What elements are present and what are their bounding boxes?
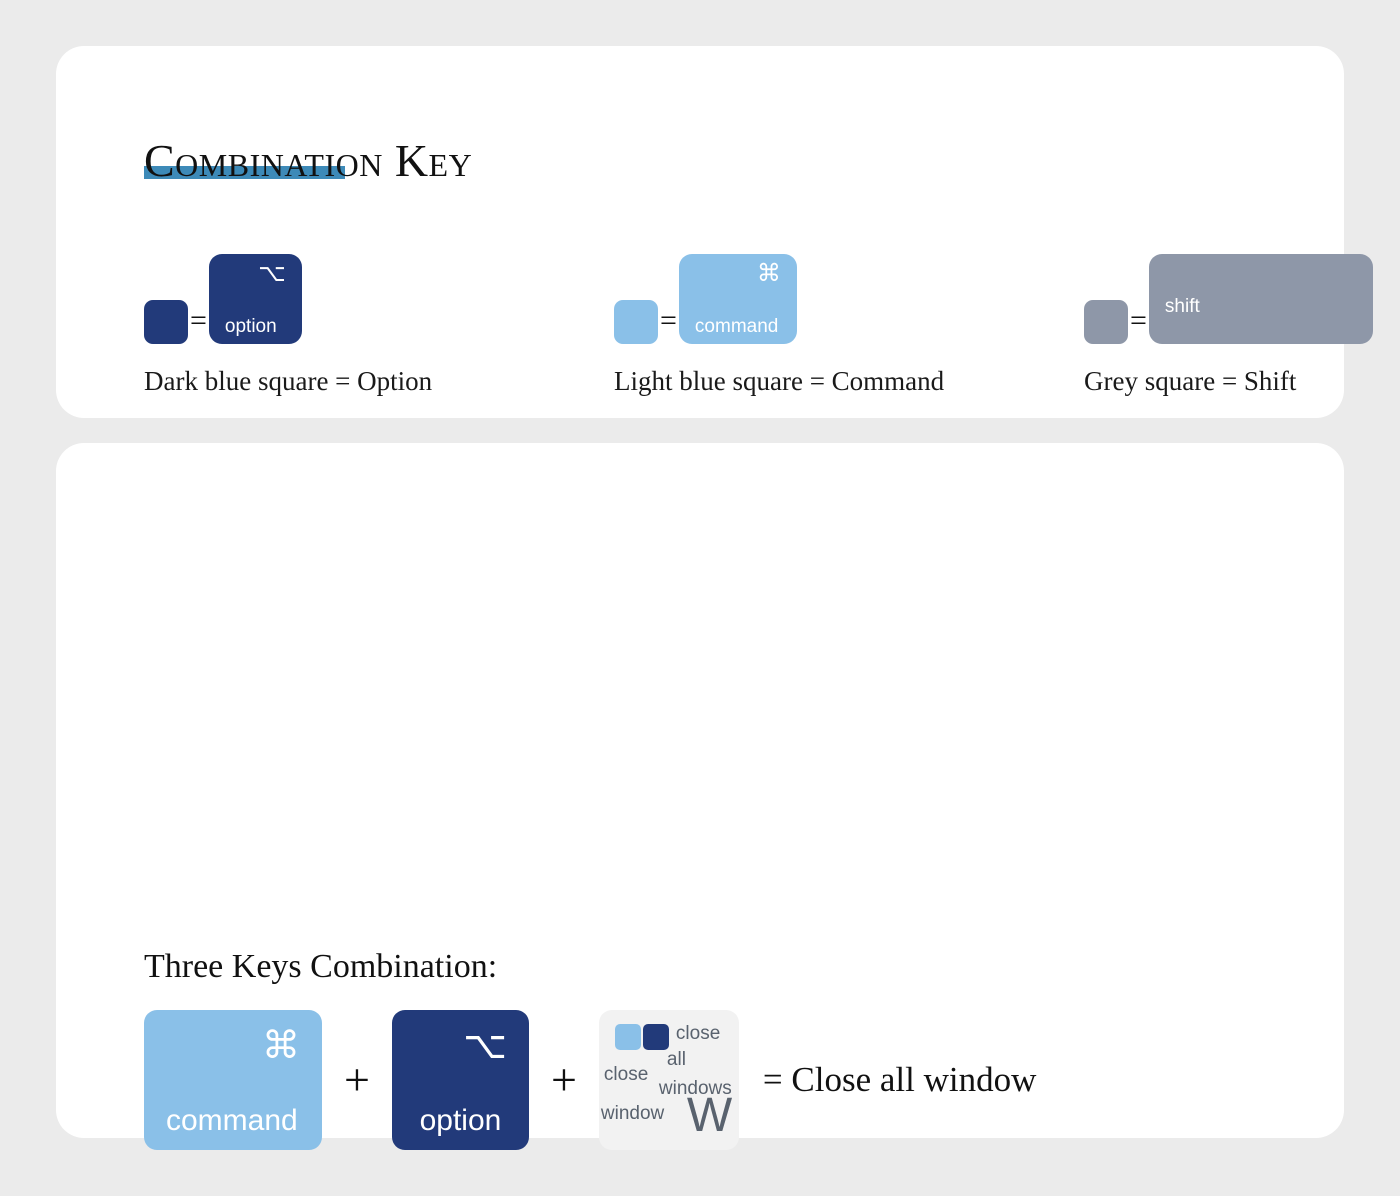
legend-item-option: = ⌥ option Dark blue square = Option [144, 252, 432, 397]
swatch-dark-blue [144, 300, 188, 344]
keycap-label: option [225, 316, 277, 338]
swatch-light-blue [614, 300, 658, 344]
chip-dark-blue-icon [643, 1024, 669, 1050]
swatch-grey [1084, 300, 1128, 344]
plus-sign: + [322, 1057, 392, 1103]
legend-card: Combination Key = ⌥ option Dark blue squ… [56, 46, 1344, 418]
keycap-label: command [695, 316, 778, 338]
equals-sign: = [188, 306, 209, 344]
option-symbol-icon: ⌥ [463, 1024, 507, 1070]
legend-row: = ⌘ command [614, 252, 944, 344]
option-symbol-icon: ⌥ [258, 260, 286, 289]
chip-light-blue-icon [615, 1024, 641, 1050]
legend-caption: Dark blue square = Option [144, 366, 432, 397]
keycap-option[interactable]: ⌥ option [209, 254, 302, 344]
three-keys-heading: Three Keys Combination: [144, 948, 497, 986]
keycap-w[interactable]: close all close windows window W [599, 1010, 739, 1150]
plus-sign: + [529, 1057, 599, 1103]
legend-row: = ⌥ option [144, 252, 432, 344]
annotation-close-secondary: close [604, 1065, 648, 1084]
keycap-label: option [392, 1104, 529, 1138]
command-symbol-icon: ⌘ [262, 1024, 300, 1070]
keycap-label: shift [1165, 296, 1200, 318]
legend-caption: Light blue square = Command [614, 366, 944, 397]
keycap-command[interactable]: ⌘ command [144, 1010, 322, 1150]
keycap-shift[interactable]: shift [1149, 254, 1373, 344]
legend-item-shift: = shift Grey square = Shift [1084, 252, 1373, 397]
annotation-all: all [667, 1050, 686, 1069]
three-keys-combo-row: ⌘ command + ⌥ option + close all close w… [144, 1010, 1036, 1150]
legend-item-command: = ⌘ command Light blue square = Command [614, 252, 944, 397]
keycap-option[interactable]: ⌥ option [392, 1010, 529, 1150]
poster-canvas: Combination Key = ⌥ option Dark blue squ… [0, 0, 1400, 1196]
annotation-close: close [676, 1024, 720, 1043]
legend-row: = shift [1084, 252, 1373, 344]
legend-caption: Grey square = Shift [1084, 366, 1373, 397]
key-letter: W [687, 1092, 732, 1140]
keycap-command[interactable]: ⌘ command [679, 254, 797, 344]
combinations-card: Three Keys Combination: ⌘ command + ⌥ op… [56, 443, 1344, 1138]
command-symbol-icon: ⌘ [757, 260, 781, 289]
equals-sign: = [1128, 306, 1149, 344]
three-keys-result: = Close all window [739, 1060, 1036, 1100]
keycap-label: command [166, 1104, 298, 1138]
page-title: Combination Key [144, 138, 472, 184]
annotation-window: window [601, 1104, 664, 1123]
equals-sign: = [658, 306, 679, 344]
